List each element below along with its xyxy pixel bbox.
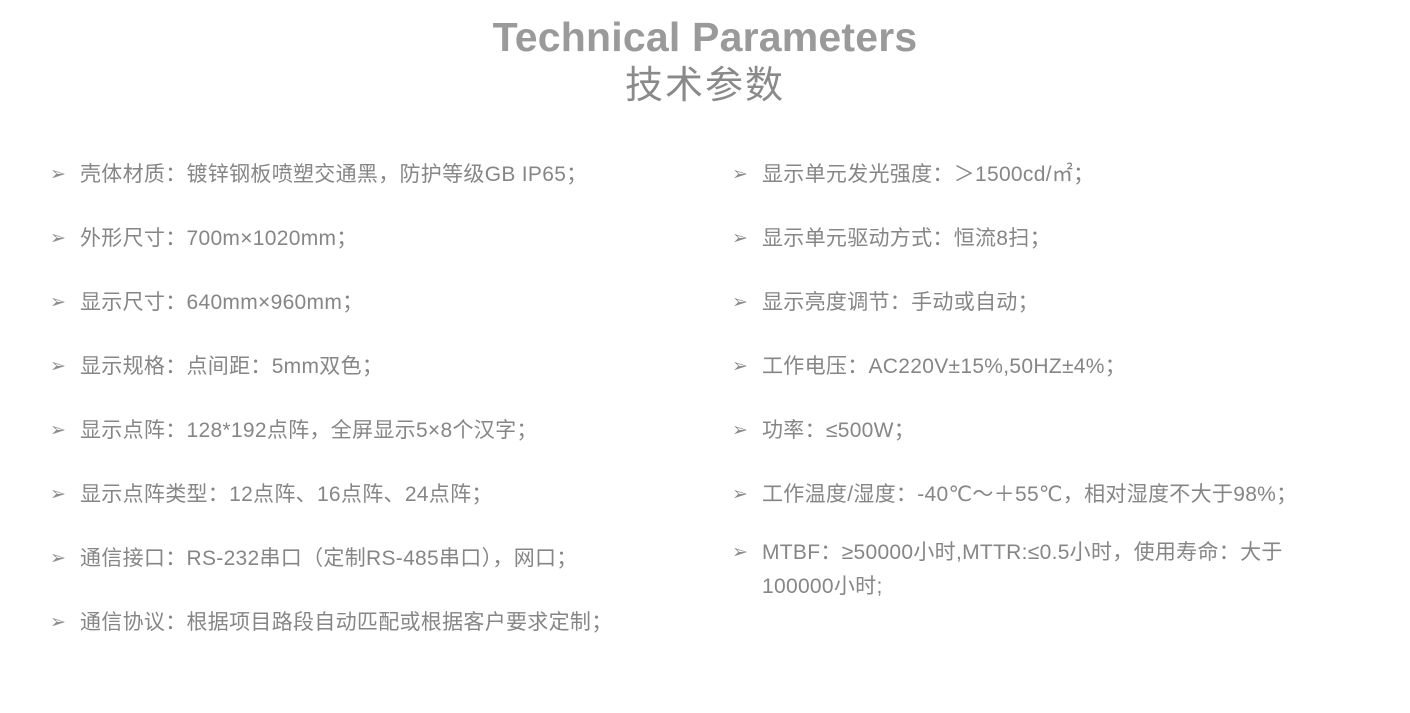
spec-item-label: 工作电压：AC220V±15%,50HZ±4%；	[762, 350, 1332, 384]
arrow-bullet-icon: ➢	[46, 478, 80, 512]
spec-item: ➢ 显示尺寸：640mm×960mm；	[46, 286, 720, 320]
spec-item: ➢ 工作电压：AC220V±15%,50HZ±4%；	[728, 350, 1410, 384]
spec-item: ➢ 通信接口：RS-232串口（定制RS-485串口），网口；	[46, 542, 720, 576]
arrow-bullet-icon: ➢	[728, 222, 762, 256]
spec-item-label: 通信协议：根据项目路段自动匹配或根据客户要求定制；	[80, 606, 720, 640]
arrow-bullet-icon: ➢	[46, 286, 80, 320]
arrow-bullet-icon: ➢	[728, 414, 762, 448]
spec-item: ➢ 显示规格：点间距：5mm双色；	[46, 350, 720, 384]
arrow-bullet-icon: ➢	[46, 414, 80, 448]
spec-item: ➢ 显示点阵类型：12点阵、16点阵、24点阵；	[46, 478, 720, 512]
spec-item: ➢ 壳体材质：镀锌钢板喷塑交通黑，防护等级GB IP65；	[46, 158, 720, 192]
spec-item: ➢ 工作温度/湿度：-40℃～＋55℃，相对湿度不大于98%；	[728, 478, 1410, 512]
spec-item: ➢ MTBF：≥50000小时,MTTR:≤0.5小时，使用寿命：大于10000…	[728, 536, 1410, 604]
arrow-bullet-icon: ➢	[728, 286, 762, 320]
spec-item: ➢ 显示点阵：128*192点阵，全屏显示5×8个汉字；	[46, 414, 720, 448]
arrow-bullet-icon: ➢	[46, 158, 80, 192]
page-title-chinese: 技术参数	[0, 63, 1410, 111]
spec-item-label: 外形尺寸：700m×1020mm；	[80, 222, 720, 256]
spec-item: ➢ 通信协议：根据项目路段自动匹配或根据客户要求定制；	[46, 606, 720, 640]
spec-item-label: 显示点阵：128*192点阵，全屏显示5×8个汉字；	[80, 414, 720, 448]
spec-item-label: 功率：≤500W；	[762, 414, 1332, 448]
spec-column-left: ➢ 壳体材质：镀锌钢板喷塑交通黑，防护等级GB IP65； ➢ 外形尺寸：700…	[0, 158, 720, 670]
spec-item-label: MTBF：≥50000小时,MTTR:≤0.5小时，使用寿命：大于100000小…	[762, 536, 1332, 604]
spec-item: ➢ 功率：≤500W；	[728, 414, 1410, 448]
spec-item-label: 工作温度/湿度：-40℃～＋55℃，相对湿度不大于98%；	[762, 478, 1332, 512]
arrow-bullet-icon: ➢	[46, 222, 80, 256]
arrow-bullet-icon: ➢	[46, 350, 80, 384]
spec-item-label: 显示亮度调节：手动或自动；	[762, 286, 1332, 320]
arrow-bullet-icon: ➢	[728, 536, 762, 570]
spec-item-label: 显示点阵类型：12点阵、16点阵、24点阵；	[80, 478, 720, 512]
spec-columns: ➢ 壳体材质：镀锌钢板喷塑交通黑，防护等级GB IP65； ➢ 外形尺寸：700…	[0, 158, 1410, 670]
spec-item-label: 显示尺寸：640mm×960mm；	[80, 286, 720, 320]
page-header: Technical Parameters 技术参数	[0, 0, 1410, 111]
spec-item-label: 显示单元发光强度：＞1500cd/㎡；	[762, 158, 1332, 192]
arrow-bullet-icon: ➢	[46, 606, 80, 640]
spec-item-label: 显示规格：点间距：5mm双色；	[80, 350, 720, 384]
spec-item-label: 壳体材质：镀锌钢板喷塑交通黑，防护等级GB IP65；	[80, 158, 720, 192]
page-title-english: Technical Parameters	[0, 14, 1410, 61]
spec-item-label: 显示单元驱动方式：恒流8扫；	[762, 222, 1332, 256]
spec-item: ➢ 外形尺寸：700m×1020mm；	[46, 222, 720, 256]
arrow-bullet-icon: ➢	[728, 158, 762, 192]
arrow-bullet-icon: ➢	[728, 478, 762, 512]
technical-parameters-page: Technical Parameters 技术参数 ➢ 壳体材质：镀锌钢板喷塑交…	[0, 0, 1410, 713]
spec-item-label: 通信接口：RS-232串口（定制RS-485串口），网口；	[80, 542, 720, 576]
arrow-bullet-icon: ➢	[728, 350, 762, 384]
spec-item: ➢ 显示亮度调节：手动或自动；	[728, 286, 1410, 320]
spec-column-right: ➢ 显示单元发光强度：＞1500cd/㎡； ➢ 显示单元驱动方式：恒流8扫； ➢…	[720, 158, 1410, 628]
spec-item: ➢ 显示单元驱动方式：恒流8扫；	[728, 222, 1410, 256]
spec-item: ➢ 显示单元发光强度：＞1500cd/㎡；	[728, 158, 1410, 192]
arrow-bullet-icon: ➢	[46, 542, 80, 576]
